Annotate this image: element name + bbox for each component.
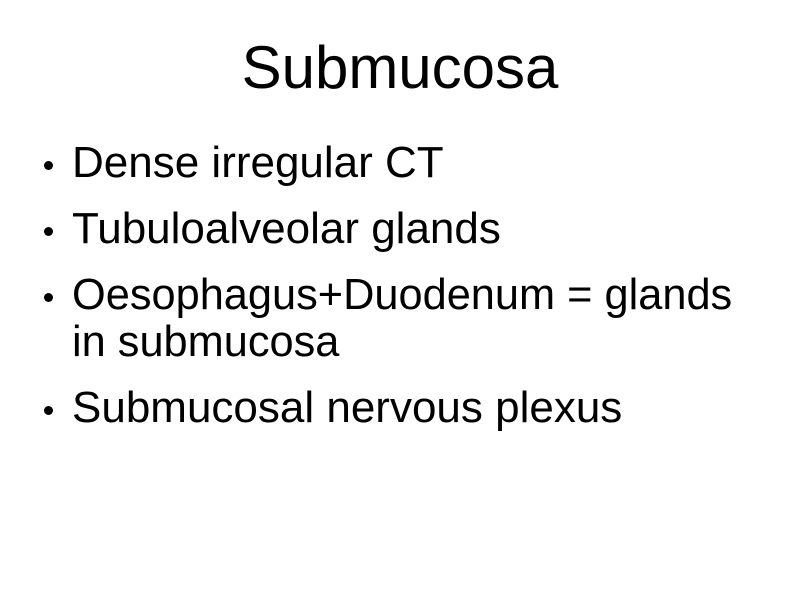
bullet-dot-icon: [44, 406, 53, 415]
bullet-dot-icon: [44, 161, 53, 170]
bullet-item-text: Tubuloalveolar glands: [72, 206, 768, 252]
bullet-dot-icon: [44, 293, 53, 302]
presentation-slide: Submucosa Dense irregular CT Tubuloalveo…: [0, 0, 800, 600]
bullet-item-text: Submucosal nervous plexus: [72, 385, 768, 431]
bullet-item: Tubuloalveolar glands: [38, 206, 768, 252]
bullet-list: Dense irregular CT Tubuloalveolar glands…: [38, 140, 768, 431]
bullet-dot-icon: [44, 227, 53, 236]
bullet-item-text: Oesophagus+Duodenum = glands in submucos…: [72, 272, 758, 364]
bullet-item: Dense irregular CT: [38, 140, 768, 186]
slide-title: Submucosa: [0, 38, 800, 98]
bullet-item-text: Dense irregular CT: [72, 140, 768, 186]
bullet-item: Oesophagus+Duodenum = glands in submucos…: [38, 272, 768, 364]
bullet-item: Submucosal nervous plexus: [38, 385, 768, 431]
